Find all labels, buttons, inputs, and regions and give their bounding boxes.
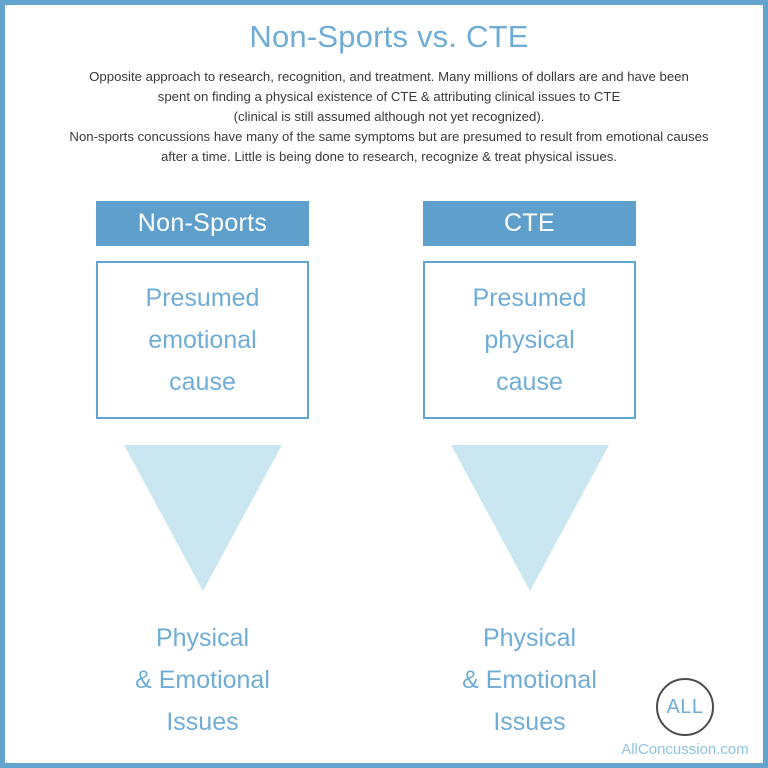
description-line: Opposite approach to research, recogniti…: [29, 67, 749, 87]
description-line: (clinical is still assumed although not …: [29, 107, 749, 127]
cause-line: cause: [169, 361, 236, 403]
outcome-line: Physical: [96, 617, 309, 659]
outcome-cte: Physical & Emotional Issues: [423, 617, 636, 743]
all-logo-icon: ALL: [656, 678, 714, 736]
logo-label: ALL: [666, 697, 703, 717]
page-description: Opposite approach to research, recogniti…: [29, 67, 749, 167]
description-line: after a time. Little is being done to re…: [29, 147, 749, 167]
page-title: Non-Sports vs. CTE: [5, 19, 768, 55]
description-line: Non-sports concussions have many of the …: [29, 127, 749, 147]
cause-box-non-sports: Presumed emotional cause: [96, 261, 309, 419]
arrow-container-cte: [423, 445, 636, 591]
description-line: spent on finding a physical existence of…: [29, 87, 749, 107]
outcome-line: Issues: [423, 701, 636, 743]
outcome-line: Issues: [96, 701, 309, 743]
cause-line: Presumed: [473, 277, 587, 319]
outcome-line: & Emotional: [423, 659, 636, 701]
cause-line: physical: [484, 319, 574, 361]
arrow-container-non-sports: [96, 445, 309, 591]
cause-line: Presumed: [146, 277, 260, 319]
outcome-non-sports: Physical & Emotional Issues: [96, 617, 309, 743]
column-header-non-sports: Non-Sports: [96, 201, 309, 246]
cause-line: emotional: [148, 319, 256, 361]
cause-line: cause: [496, 361, 563, 403]
column-header-cte: CTE: [423, 201, 636, 246]
site-url-label: AllConcussion.com: [603, 741, 767, 758]
outcome-line: Physical: [423, 617, 636, 659]
cause-box-cte: Presumed physical cause: [423, 261, 636, 419]
infographic-canvas: Non-Sports vs. CTE Opposite approach to …: [0, 0, 768, 768]
down-triangle-icon: [451, 445, 609, 591]
down-triangle-icon: [124, 445, 282, 591]
outcome-line: & Emotional: [96, 659, 309, 701]
column-cte: CTE Presumed physical cause Physical & E…: [423, 201, 636, 743]
column-non-sports: Non-Sports Presumed emotional cause Phys…: [96, 201, 309, 743]
